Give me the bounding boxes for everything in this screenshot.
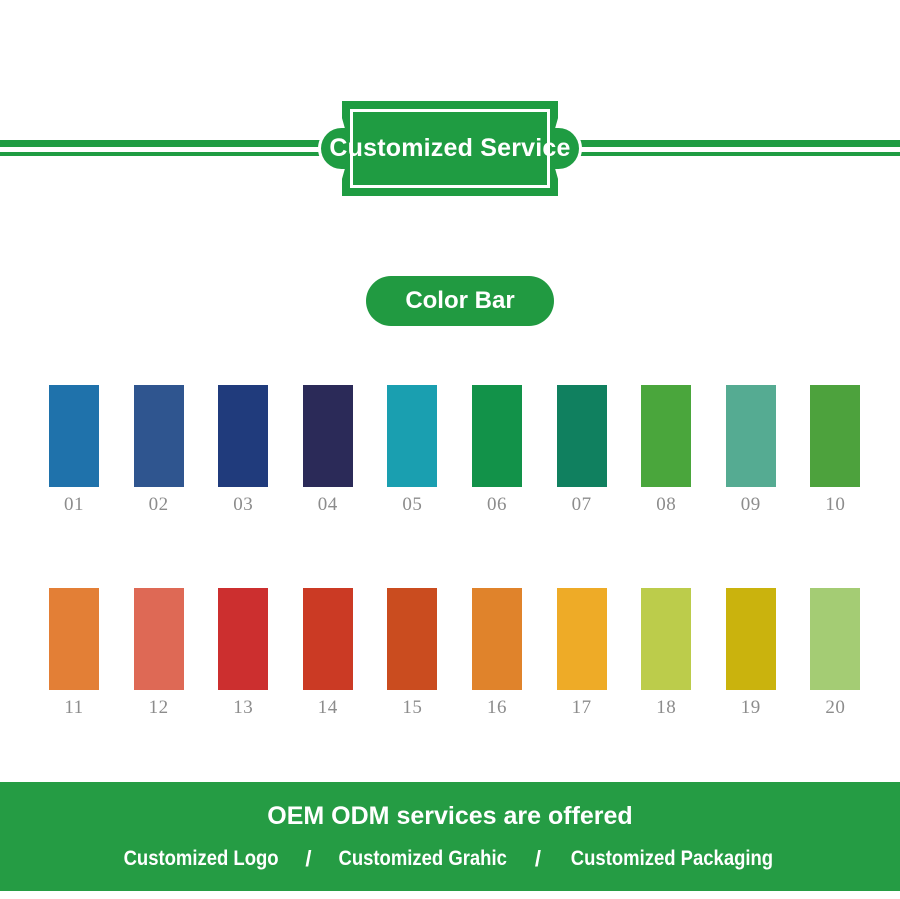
swatch-number-label: 02 [134, 494, 184, 516]
swatch-chip[interactable] [49, 385, 99, 487]
swatch-number-label: 14 [303, 697, 353, 719]
swatch-chip[interactable] [218, 588, 268, 690]
swatch-chip[interactable] [641, 385, 691, 487]
title-plate: Customized Service [318, 101, 582, 196]
color-swatch[interactable]: 12 [134, 588, 184, 719]
swatch-chip[interactable] [472, 385, 522, 487]
color-bar-label: Color Bar [405, 287, 514, 315]
swatch-row-2: 11121314151617181920 [0, 588, 900, 723]
swatch-chip[interactable] [726, 588, 776, 690]
swatch-number-label: 13 [218, 697, 268, 719]
color-swatch[interactable]: 04 [303, 385, 353, 516]
color-swatch[interactable]: 09 [726, 385, 776, 516]
color-swatch[interactable]: 10 [810, 385, 860, 516]
swatch-number-label: 06 [472, 494, 522, 516]
swatch-number-label: 03 [218, 494, 268, 516]
swatch-number-label: 18 [641, 697, 691, 719]
swatch-number-label: 19 [726, 697, 776, 719]
color-swatch[interactable]: 02 [134, 385, 184, 516]
page-title: Customized Service [318, 101, 582, 196]
footer-banner: OEM ODM services are offered Customized … [0, 782, 900, 891]
swatch-number-label: 16 [472, 697, 522, 719]
color-swatch[interactable]: 17 [557, 588, 607, 719]
swatch-chip[interactable] [387, 385, 437, 487]
color-swatch[interactable]: 16 [472, 588, 522, 719]
swatch-number-label: 10 [810, 494, 860, 516]
color-swatch[interactable]: 06 [472, 385, 522, 516]
swatch-chip[interactable] [134, 385, 184, 487]
swatch-number-label: 09 [726, 494, 776, 516]
swatch-chip[interactable] [810, 385, 860, 487]
color-swatch[interactable]: 01 [49, 385, 99, 516]
color-swatch[interactable]: 11 [49, 588, 99, 719]
swatch-number-label: 08 [641, 494, 691, 516]
swatch-chip[interactable] [810, 588, 860, 690]
footer-services-list: Customized Logo/Customized Grahic/Custom… [113, 846, 787, 872]
color-swatch[interactable]: 19 [726, 588, 776, 719]
color-swatch[interactable]: 13 [218, 588, 268, 719]
swatch-number-label: 07 [557, 494, 607, 516]
color-swatch[interactable]: 05 [387, 385, 437, 516]
swatch-chip[interactable] [641, 588, 691, 690]
color-swatch[interactable]: 20 [810, 588, 860, 719]
footer-separator: / [289, 846, 327, 872]
swatch-chip[interactable] [387, 588, 437, 690]
swatch-number-label: 15 [387, 697, 437, 719]
swatch-chip[interactable] [49, 588, 99, 690]
swatch-chip[interactable] [557, 588, 607, 690]
swatch-number-label: 12 [134, 697, 184, 719]
swatch-number-label: 11 [49, 697, 99, 719]
swatch-chip[interactable] [303, 588, 353, 690]
color-swatch[interactable]: 14 [303, 588, 353, 719]
footer-headline: OEM ODM services are offered [267, 802, 632, 831]
swatch-row-1: 01020304050607080910 [0, 385, 900, 520]
swatch-number-label: 04 [303, 494, 353, 516]
swatch-chip[interactable] [557, 385, 607, 487]
swatch-chip[interactable] [726, 385, 776, 487]
swatch-number-label: 05 [387, 494, 437, 516]
color-swatch[interactable]: 18 [641, 588, 691, 719]
swatch-number-label: 20 [810, 697, 860, 719]
footer-separator: / [519, 846, 557, 872]
swatch-chip[interactable] [218, 385, 268, 487]
swatch-chip[interactable] [472, 588, 522, 690]
footer-service-item: Customized Logo [124, 847, 279, 871]
swatch-chip[interactable] [303, 385, 353, 487]
swatch-chip[interactable] [134, 588, 184, 690]
color-swatch[interactable]: 08 [641, 385, 691, 516]
footer-service-item: Customized Grahic [339, 847, 507, 871]
color-swatch[interactable]: 03 [218, 385, 268, 516]
swatch-number-label: 17 [557, 697, 607, 719]
header-banner: Customized Service [0, 0, 900, 230]
color-swatch[interactable]: 15 [387, 588, 437, 719]
swatch-number-label: 01 [49, 494, 99, 516]
footer-service-item: Customized Packaging [571, 847, 773, 871]
color-bar-pill: Color Bar [366, 276, 554, 326]
color-swatch[interactable]: 07 [557, 385, 607, 516]
